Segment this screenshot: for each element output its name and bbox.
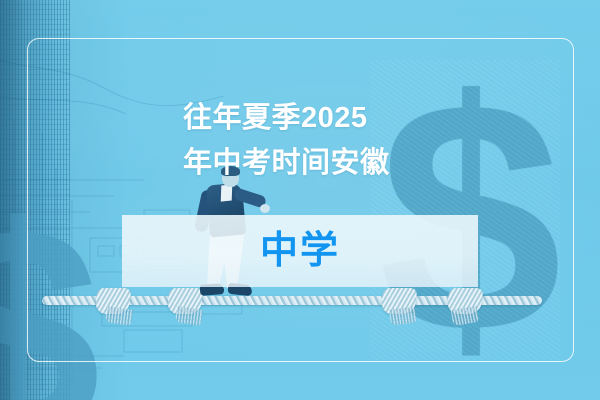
tightrope: [0, 286, 600, 320]
subtitle-band: 中学: [122, 215, 478, 287]
promo-banner: $ $ 往年夏季2025 年中考时间安徽 中学: [0, 0, 600, 400]
figure-hand: [260, 204, 270, 213]
subtitle-text: 中学: [260, 232, 340, 270]
page-title: 往年夏季2025 年中考时间安徽: [183, 96, 483, 186]
rope-fringe: [389, 306, 417, 325]
